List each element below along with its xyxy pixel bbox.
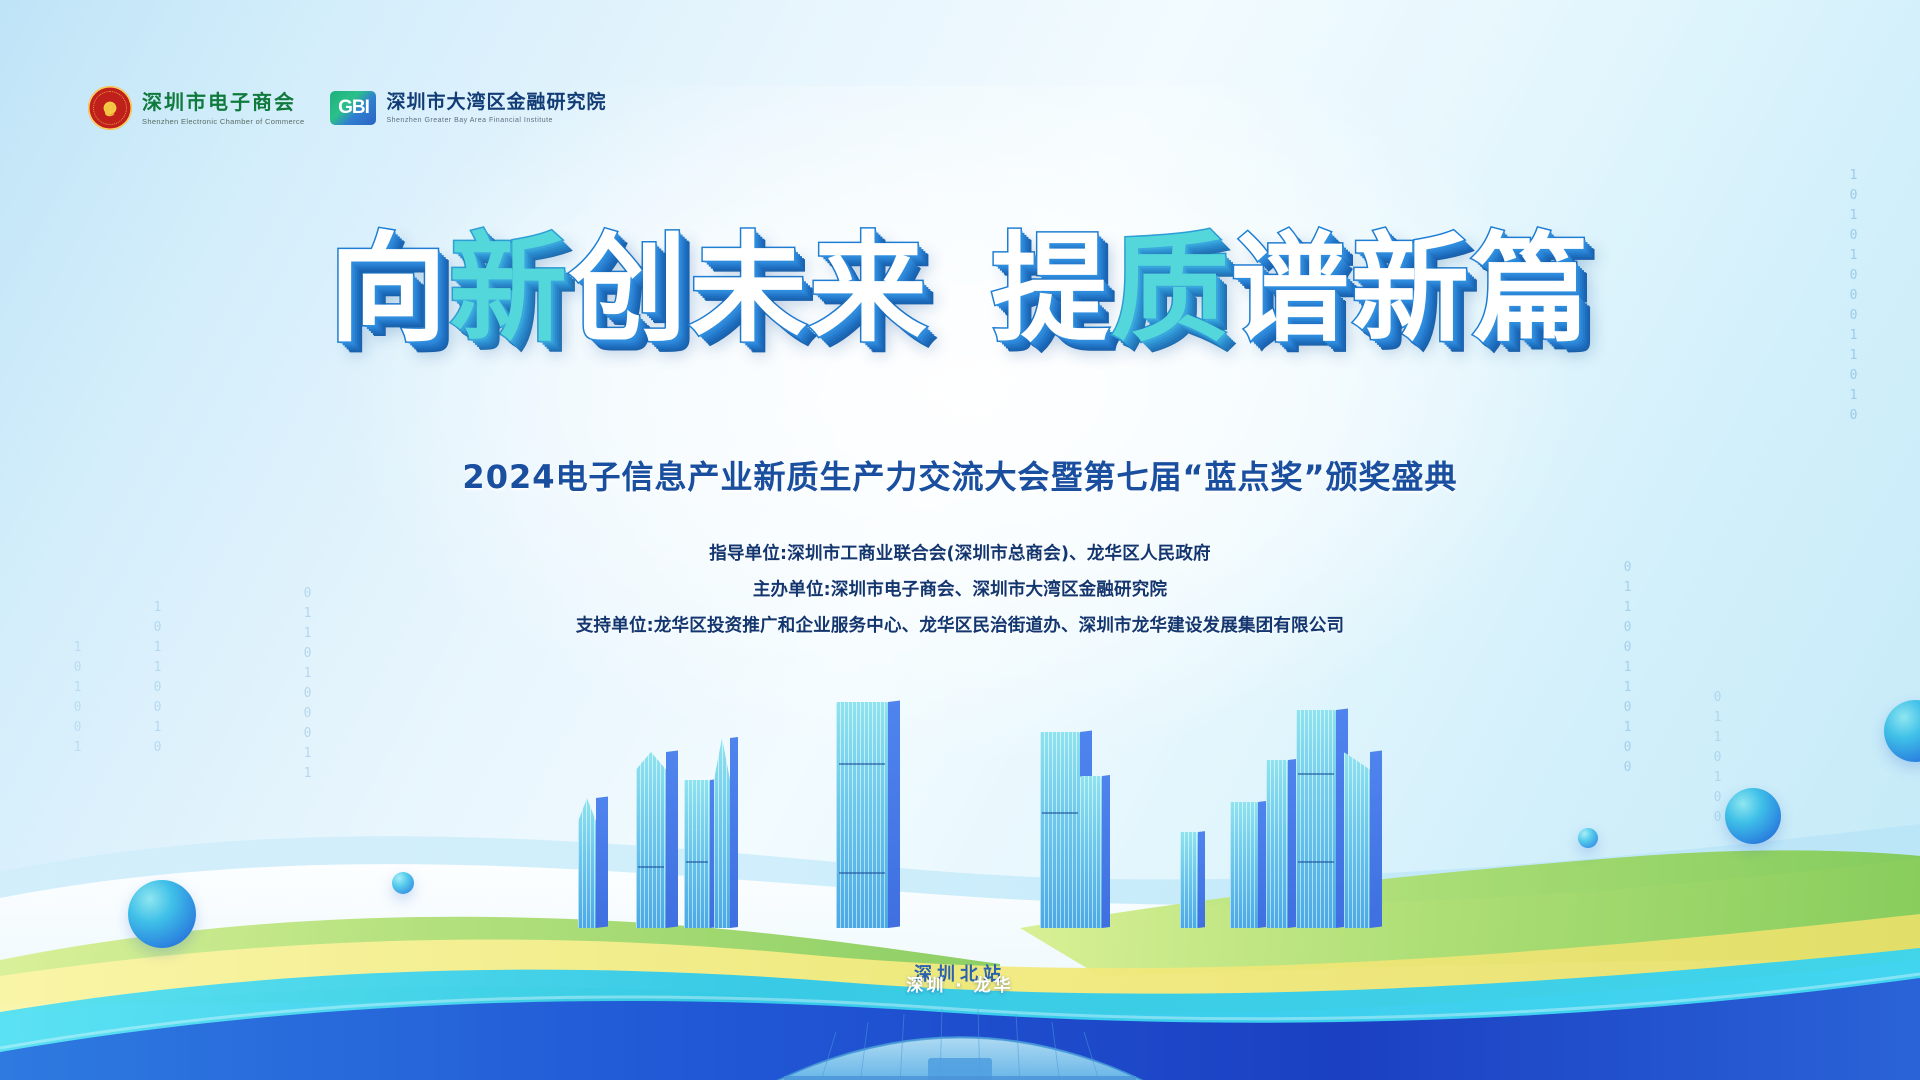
building bbox=[1040, 732, 1080, 928]
building bbox=[684, 780, 710, 928]
building bbox=[1180, 832, 1198, 928]
logo-name-cn: 深圳市大湾区金融研究院 bbox=[386, 92, 606, 114]
headline-char: 新 bbox=[1351, 230, 1471, 348]
logo-name-en: Shenzhen Greater Bay Area Financial Inst… bbox=[386, 117, 606, 124]
organizer-list: 指导单位:深圳市工商业联合会(深圳市总商会)、龙华区人民政府主办单位:深圳市电子… bbox=[0, 536, 1920, 644]
building bbox=[636, 752, 666, 928]
building bbox=[836, 702, 888, 928]
headline-char: 未 bbox=[689, 230, 809, 348]
headline-char: 篇 bbox=[1471, 230, 1591, 348]
logo-name-en: Shenzhen Electronic Chamber of Commerce bbox=[142, 117, 304, 126]
headline-char: 新 bbox=[449, 230, 569, 348]
gbi-monogram-text: GBI bbox=[338, 97, 369, 119]
logo-name-cn: 深圳市电子商会 bbox=[142, 91, 304, 114]
headline-char: 创 bbox=[569, 230, 689, 348]
headline-char: 来 bbox=[809, 230, 929, 348]
seal-emblem-icon bbox=[88, 86, 132, 130]
shenzhen-north-station-building: 深圳北站 bbox=[760, 996, 1160, 1080]
headline-char: 提 bbox=[991, 230, 1111, 348]
building bbox=[1080, 776, 1102, 928]
gbi-monogram-icon: GBI bbox=[330, 91, 376, 125]
headline-char: 谱 bbox=[1231, 230, 1351, 348]
sphere-decor-small-left bbox=[392, 872, 414, 894]
headline-char: 质 bbox=[1111, 230, 1231, 348]
event-subtitle: 2024电子信息产业新质生产力交流大会暨第七届“蓝点奖”颁奖盛典 bbox=[0, 452, 1920, 498]
logo-shenzhen-electronic-chamber: 深圳市电子商会 Shenzhen Electronic Chamber of C… bbox=[88, 86, 304, 130]
building bbox=[1266, 760, 1288, 928]
building bbox=[578, 798, 596, 928]
sphere-decor-small-right bbox=[1578, 828, 1598, 848]
city-skyline bbox=[0, 668, 1920, 928]
building bbox=[1296, 710, 1336, 928]
organizer-line: 指导单位:深圳市工商业联合会(深圳市总商会)、龙华区人民政府 bbox=[0, 536, 1920, 572]
logo-gba-financial-institute: GBI 深圳市大湾区金融研究院 Shenzhen Greater Bay Are… bbox=[330, 91, 606, 125]
headline-char: 向 bbox=[329, 230, 449, 348]
sphere-decor-large-right bbox=[1725, 788, 1781, 844]
building bbox=[1344, 752, 1370, 928]
organizer-line: 支持单位:龙华区投资推广和企业服务中心、龙华区民治街道办、深圳市龙华建设发展集团… bbox=[0, 608, 1920, 644]
building bbox=[1230, 802, 1258, 928]
page-title: 向新创未来提质谱新篇 bbox=[0, 230, 1920, 348]
sphere-decor-large-left bbox=[128, 880, 196, 948]
location-label: 深圳 · 龙华 bbox=[0, 971, 1920, 996]
event-banner: 1010100011010 01100110100 0110100011 101… bbox=[0, 0, 1920, 1080]
station-silhouette-icon bbox=[760, 996, 1160, 1080]
building bbox=[714, 738, 730, 928]
organizer-line: 主办单位:深圳市电子商会、深圳市大湾区金融研究院 bbox=[0, 572, 1920, 608]
logo-bar: 深圳市电子商会 Shenzhen Electronic Chamber of C… bbox=[88, 86, 606, 130]
